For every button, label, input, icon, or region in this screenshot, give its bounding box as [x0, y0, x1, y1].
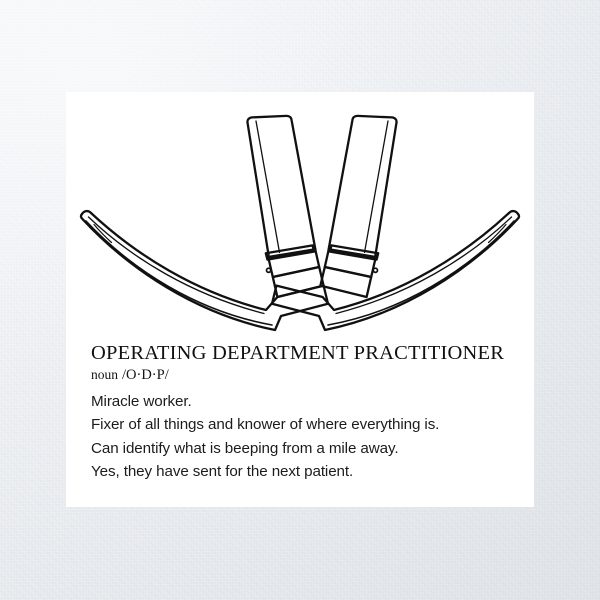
right-scythe-collar	[320, 245, 378, 297]
pronunciation: /O·D·P/	[122, 367, 169, 383]
part-of-speech-line: noun/O·D·P/	[91, 367, 516, 384]
definition-line: Yes, they have sent for the next patient…	[91, 460, 516, 484]
definition-block: OPERATING DEPARTMENT PRACTITIONER noun/O…	[91, 342, 516, 484]
right-scythe-handle	[329, 116, 397, 258]
definition-line: Fixer of all things and knower of where …	[91, 413, 516, 437]
definition-list: Miracle worker. Fixer of all things and …	[91, 390, 516, 484]
scythes-svg	[66, 92, 534, 342]
left-scythe-handle	[247, 116, 315, 258]
poster-scene: OPERATING DEPARTMENT PRACTITIONER noun/O…	[0, 0, 600, 600]
definition-line: Can identify what is beeping from a mile…	[91, 437, 516, 461]
right-scythe-blade	[272, 211, 519, 330]
poster-sheet: OPERATING DEPARTMENT PRACTITIONER noun/O…	[66, 92, 534, 507]
page-title: OPERATING DEPARTMENT PRACTITIONER	[91, 342, 516, 365]
left-scythe-blade	[81, 211, 328, 330]
crossed-scythes-illustration	[66, 92, 534, 342]
part-of-speech: noun	[91, 367, 118, 382]
definition-line: Miracle worker.	[91, 390, 516, 414]
